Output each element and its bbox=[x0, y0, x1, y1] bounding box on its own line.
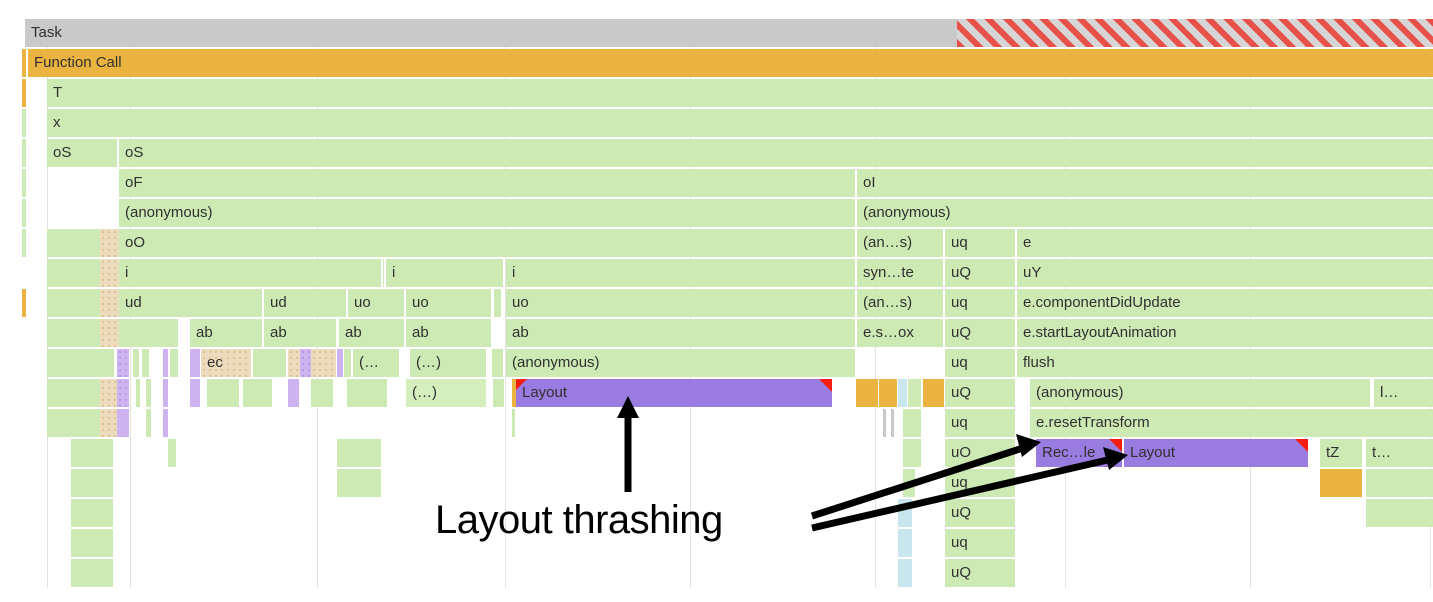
flame-bar-13-8[interactable] bbox=[903, 409, 921, 437]
annotation-label: Layout thrashing bbox=[435, 498, 723, 543]
flame-bar-ud[interactable]: ud bbox=[119, 289, 262, 317]
flame-bar-11-5[interactable] bbox=[170, 349, 178, 377]
flame-bar-label: uO bbox=[951, 439, 971, 467]
flame-bar-an-s[interactable]: (an…s) bbox=[857, 229, 943, 257]
flame-bar-i[interactable]: i bbox=[386, 259, 503, 287]
flame-bar-label: Task bbox=[31, 19, 62, 47]
flame-bar-uq[interactable]: uQ bbox=[945, 559, 1015, 587]
flame-bar-label: ab bbox=[512, 319, 529, 347]
flame-bar-oo[interactable]: oO bbox=[119, 229, 855, 257]
flame-bar-11-2[interactable] bbox=[133, 349, 139, 377]
flame-bar-uo[interactable]: uo bbox=[506, 289, 855, 317]
flame-bar-14-3[interactable] bbox=[903, 439, 921, 467]
flame-bar-label: oS bbox=[53, 139, 71, 167]
flame-bar-label: oF bbox=[125, 169, 143, 197]
flame-bar-12-18[interactable] bbox=[898, 379, 907, 407]
flame-bar-12-17[interactable] bbox=[879, 379, 897, 407]
forced-reflow-marker-right-icon bbox=[1109, 439, 1122, 452]
flame-bar-14-0[interactable] bbox=[71, 439, 113, 467]
flame-bar-12-3[interactable] bbox=[136, 379, 140, 407]
flame-bar-1-0[interactable] bbox=[22, 49, 26, 77]
flame-bar-label: uY bbox=[1023, 259, 1041, 287]
flame-bar-18-0[interactable] bbox=[71, 559, 113, 587]
flame-bar-label: oS bbox=[125, 139, 143, 167]
flame-bar-13-0[interactable] bbox=[47, 409, 100, 437]
flame-bar-label: uo bbox=[412, 289, 429, 317]
flame-bar-flush[interactable]: flush bbox=[1017, 349, 1433, 377]
flame-bar-layout[interactable]: Layout bbox=[516, 379, 832, 407]
flame-bar-11-10[interactable] bbox=[300, 349, 311, 377]
flame-bar-uo[interactable]: uo bbox=[406, 289, 491, 317]
flame-bar-11-8[interactable] bbox=[253, 349, 286, 377]
flame-bar-label: (…) bbox=[416, 349, 441, 377]
flame-bar-label: uq bbox=[951, 289, 968, 317]
flame-bar-label: Rec…le bbox=[1042, 439, 1095, 467]
flame-bar-12-2[interactable] bbox=[117, 379, 129, 407]
flame-bar-label: (anonymous) bbox=[1036, 379, 1124, 407]
flame-bar-7-0[interactable] bbox=[22, 229, 26, 257]
flame-bar-label: uQ bbox=[951, 379, 971, 407]
flame-bar-11-16[interactable] bbox=[492, 349, 503, 377]
flame-bar-17-1[interactable] bbox=[898, 529, 912, 557]
forced-reflow-marker-right-icon bbox=[1295, 439, 1308, 452]
flame-bar-ab[interactable]: ab bbox=[264, 319, 336, 347]
flame-bar-10-0[interactable] bbox=[47, 319, 100, 347]
flame-bar-label: oI bbox=[863, 169, 876, 197]
flame-bar-label: ec bbox=[207, 349, 223, 377]
flame-bar-[interactable]: (…) bbox=[410, 349, 486, 377]
flame-bar-ec[interactable]: ec bbox=[201, 349, 251, 377]
flame-bar-l[interactable]: l… bbox=[1374, 379, 1433, 407]
flame-bar-13-7[interactable] bbox=[891, 409, 894, 437]
forced-reflow-marker-right-icon bbox=[819, 379, 832, 392]
flame-bar-label: uq bbox=[951, 529, 968, 557]
flame-bar-uq[interactable]: uQ bbox=[945, 319, 1015, 347]
flame-bar-[interactable]: (… bbox=[353, 349, 399, 377]
flame-bar-13-1[interactable] bbox=[100, 409, 117, 437]
flame-bar-label: ab bbox=[412, 319, 429, 347]
flame-bar-10-2[interactable] bbox=[119, 319, 178, 347]
flame-bar-6-0[interactable] bbox=[22, 199, 26, 227]
flame-bar-of[interactable]: oF bbox=[119, 169, 855, 197]
flame-bar-12-9[interactable] bbox=[288, 379, 299, 407]
flame-bar-11-0[interactable] bbox=[47, 349, 114, 377]
flame-bar-11-3[interactable] bbox=[142, 349, 149, 377]
forced-reflow-marker-left-icon bbox=[516, 379, 527, 390]
flame-bar-15-4[interactable] bbox=[1320, 469, 1362, 497]
flame-bar-label: oO bbox=[125, 229, 145, 257]
flame-bar-11-13[interactable] bbox=[344, 349, 351, 377]
flame-bar-uo[interactable]: uo bbox=[348, 289, 404, 317]
flame-bar-8-0[interactable] bbox=[47, 259, 100, 287]
flame-bar-uq[interactable]: uq bbox=[945, 349, 1015, 377]
flame-bar-uq[interactable]: uq bbox=[945, 229, 1015, 257]
flame-bar-uq[interactable]: uQ bbox=[945, 259, 1015, 287]
flame-bar-t[interactable]: t… bbox=[1366, 439, 1433, 467]
flame-bar-e-s-ox[interactable]: e.s…ox bbox=[857, 319, 943, 347]
flame-bar-18-1[interactable] bbox=[898, 559, 912, 587]
flame-bar-12-1[interactable] bbox=[100, 379, 117, 407]
flame-bar-label: uo bbox=[354, 289, 371, 317]
flame-bar-uq[interactable]: uq bbox=[945, 529, 1015, 557]
flame-bar-label: ab bbox=[270, 319, 287, 347]
flame-bar-label: uq bbox=[951, 349, 968, 377]
flame-bar-label: e bbox=[1023, 229, 1031, 257]
flame-bar-label: e.startLayoutAnimation bbox=[1023, 319, 1176, 347]
flame-bar-label: uQ bbox=[951, 259, 971, 287]
flame-bar-0-1[interactable] bbox=[957, 19, 1433, 47]
flame-bar-9-0[interactable] bbox=[22, 289, 26, 317]
flame-bar-ab[interactable]: ab bbox=[339, 319, 404, 347]
flame-bar-12-7[interactable] bbox=[207, 379, 239, 407]
flame-bar-12-8[interactable] bbox=[243, 379, 272, 407]
flame-bar-label: l… bbox=[1380, 379, 1398, 407]
flame-bar-uo[interactable]: uO bbox=[945, 439, 1015, 467]
flame-bar-ab[interactable]: ab bbox=[406, 319, 491, 347]
flame-bar-[interactable]: (…) bbox=[406, 379, 486, 407]
flame-bar-2-0[interactable] bbox=[22, 79, 26, 107]
flame-bar-label: e.componentDidUpdate bbox=[1023, 289, 1181, 317]
flame-bar-uq[interactable]: uQ bbox=[945, 379, 1015, 407]
flame-bar-i[interactable]: i bbox=[119, 259, 381, 287]
flame-bar-13-4[interactable] bbox=[163, 409, 168, 437]
flame-bar-label: i bbox=[392, 259, 395, 287]
flame-bar-12-16[interactable] bbox=[856, 379, 878, 407]
flame-bar-label: e.s…ox bbox=[863, 319, 914, 347]
flame-bar-9-1[interactable] bbox=[47, 289, 100, 317]
flame-bar-label: uq bbox=[951, 409, 968, 437]
flame-bar-layout[interactable]: Layout bbox=[1124, 439, 1308, 467]
flame-bar-label: T bbox=[53, 79, 62, 107]
flame-bar-e-resettransform[interactable]: e.resetTransform bbox=[1030, 409, 1433, 437]
flame-bar-label: uQ bbox=[951, 559, 971, 587]
flame-bar-label: tZ bbox=[1326, 439, 1339, 467]
flame-bar-uy[interactable]: uY bbox=[1017, 259, 1433, 287]
flame-bar-anonymous[interactable]: (anonymous) bbox=[119, 199, 855, 227]
flame-bar-x[interactable]: x bbox=[47, 109, 1433, 137]
flame-bar-8-1[interactable] bbox=[100, 259, 119, 287]
flame-bar-12-19[interactable] bbox=[908, 379, 921, 407]
flame-bar-15-5[interactable] bbox=[1366, 469, 1433, 497]
flame-bar-e-componentdidupdate[interactable]: e.componentDidUpdate bbox=[1017, 289, 1433, 317]
flame-bar-an-s[interactable]: (an…s) bbox=[857, 289, 943, 317]
flame-bar-e[interactable]: e bbox=[1017, 229, 1433, 257]
flame-bar-label: Layout bbox=[1130, 439, 1175, 467]
flame-bar-label: (an…s) bbox=[863, 289, 912, 317]
flame-bar-label: Layout bbox=[522, 379, 567, 407]
flame-bar-label: x bbox=[53, 109, 61, 137]
flame-bar-11-12[interactable] bbox=[337, 349, 343, 377]
flame-bar-label: t… bbox=[1372, 439, 1391, 467]
flame-bar-11-11[interactable] bbox=[311, 349, 336, 377]
flame-bar-label: (…) bbox=[412, 379, 437, 407]
flame-bar-label: ud bbox=[270, 289, 287, 317]
flame-bar-7-2[interactable] bbox=[100, 229, 119, 257]
flame-bar-12-4[interactable] bbox=[146, 379, 151, 407]
flame-bar-syn-te[interactable]: syn…te bbox=[857, 259, 943, 287]
flame-bar-16-0[interactable] bbox=[71, 499, 113, 527]
flame-bar-ab[interactable]: ab bbox=[506, 319, 855, 347]
flame-bar-label: flush bbox=[1023, 349, 1055, 377]
flame-bar-9-2[interactable] bbox=[100, 289, 119, 317]
flame-bar-5-0[interactable] bbox=[22, 169, 26, 197]
flame-bar-i[interactable]: i bbox=[506, 259, 855, 287]
flame-bar-label: syn…te bbox=[863, 259, 914, 287]
flame-bar-label: (… bbox=[359, 349, 379, 377]
flame-bar-12-6[interactable] bbox=[190, 379, 200, 407]
flame-bar-label: uo bbox=[512, 289, 529, 317]
flame-bar-4-0[interactable] bbox=[22, 139, 26, 167]
flame-bar-label: (anonymous) bbox=[863, 199, 951, 227]
flame-bar-15-1[interactable] bbox=[337, 469, 381, 497]
flame-bar-anonymous[interactable]: (anonymous) bbox=[1030, 379, 1370, 407]
flame-bar-label: ab bbox=[196, 319, 213, 347]
flame-bar-rec-le[interactable]: Rec…le bbox=[1036, 439, 1122, 467]
flame-bar-tz[interactable]: tZ bbox=[1320, 439, 1362, 467]
flame-bar-label: ud bbox=[125, 289, 142, 317]
flame-bar-anonymous[interactable]: (anonymous) bbox=[506, 349, 855, 377]
flame-bar-label: Function Call bbox=[34, 49, 122, 77]
flame-bar-label: uq bbox=[951, 229, 968, 257]
flame-bar-12-0[interactable] bbox=[47, 379, 100, 407]
flame-bar-13-2[interactable] bbox=[117, 409, 129, 437]
flame-bar-11-1[interactable] bbox=[117, 349, 129, 377]
flame-bar-label: (anonymous) bbox=[512, 349, 600, 377]
flame-bar-9-7[interactable] bbox=[494, 289, 501, 317]
flame-bar-t[interactable]: T bbox=[47, 79, 1433, 107]
flame-bar-14-1[interactable] bbox=[168, 439, 176, 467]
flame-bar-10-1[interactable] bbox=[100, 319, 119, 347]
flame-bar-15-0[interactable] bbox=[71, 469, 113, 497]
flame-bar-11-6[interactable] bbox=[190, 349, 200, 377]
flame-bar-label: (anonymous) bbox=[125, 199, 213, 227]
flame-bar-ab[interactable]: ab bbox=[190, 319, 262, 347]
flame-bar-label: (an…s) bbox=[863, 229, 912, 257]
flame-bar-oi[interactable]: oI bbox=[857, 169, 1433, 197]
flame-bar-3-0[interactable] bbox=[22, 109, 26, 137]
flame-bar-anonymous[interactable]: (anonymous) bbox=[857, 199, 1433, 227]
flame-bar-e-startlayoutanimation[interactable]: e.startLayoutAnimation bbox=[1017, 319, 1433, 347]
flame-bar-12-10[interactable] bbox=[311, 379, 333, 407]
flame-bar-uq[interactable]: uq bbox=[945, 469, 1015, 497]
flame-bar-label: ab bbox=[345, 319, 362, 347]
flame-bar-os[interactable]: oS bbox=[47, 139, 117, 167]
flame-bar-16-1[interactable] bbox=[898, 499, 912, 527]
flame-bar-os[interactable]: oS bbox=[119, 139, 1433, 167]
flame-bar-function-call[interactable]: Function Call bbox=[28, 49, 1433, 77]
flame-bar-12-13[interactable] bbox=[493, 379, 504, 407]
flame-bar-label: uQ bbox=[951, 499, 971, 527]
flame-bar-13-6[interactable] bbox=[883, 409, 886, 437]
flame-bar-13-5[interactable] bbox=[512, 409, 515, 437]
flame-bar-14-2[interactable] bbox=[337, 439, 381, 467]
flame-bar-uq[interactable]: uq bbox=[945, 409, 1015, 437]
flame-bar-7-1[interactable] bbox=[47, 229, 100, 257]
flame-bar-ud[interactable]: ud bbox=[264, 289, 346, 317]
flame-bar-label: i bbox=[512, 259, 515, 287]
flame-bar-13-3[interactable] bbox=[146, 409, 151, 437]
flame-chart-canvas[interactable]: TaskFunction CallTxoSoSoFoI(anonymous)(a… bbox=[0, 0, 1433, 602]
flame-bar-label: uq bbox=[951, 469, 968, 497]
flame-bar-label: i bbox=[125, 259, 128, 287]
flame-bar-8-3[interactable] bbox=[383, 259, 384, 287]
flame-bar-12-5[interactable] bbox=[163, 379, 168, 407]
flame-bar-label: e.resetTransform bbox=[1036, 409, 1150, 437]
flame-bar-label: uQ bbox=[951, 319, 971, 347]
flame-bar-16-3[interactable] bbox=[1366, 499, 1433, 527]
flame-bar-uq[interactable]: uq bbox=[945, 289, 1015, 317]
flame-bar-17-0[interactable] bbox=[71, 529, 113, 557]
flame-bar-15-2[interactable] bbox=[903, 469, 915, 497]
flame-bar-12-20[interactable] bbox=[923, 379, 944, 407]
flame-bar-12-11[interactable] bbox=[347, 379, 387, 407]
flame-bar-11-4[interactable] bbox=[163, 349, 168, 377]
flame-bar-task[interactable]: Task bbox=[25, 19, 957, 47]
flame-bar-uq[interactable]: uQ bbox=[945, 499, 1015, 527]
